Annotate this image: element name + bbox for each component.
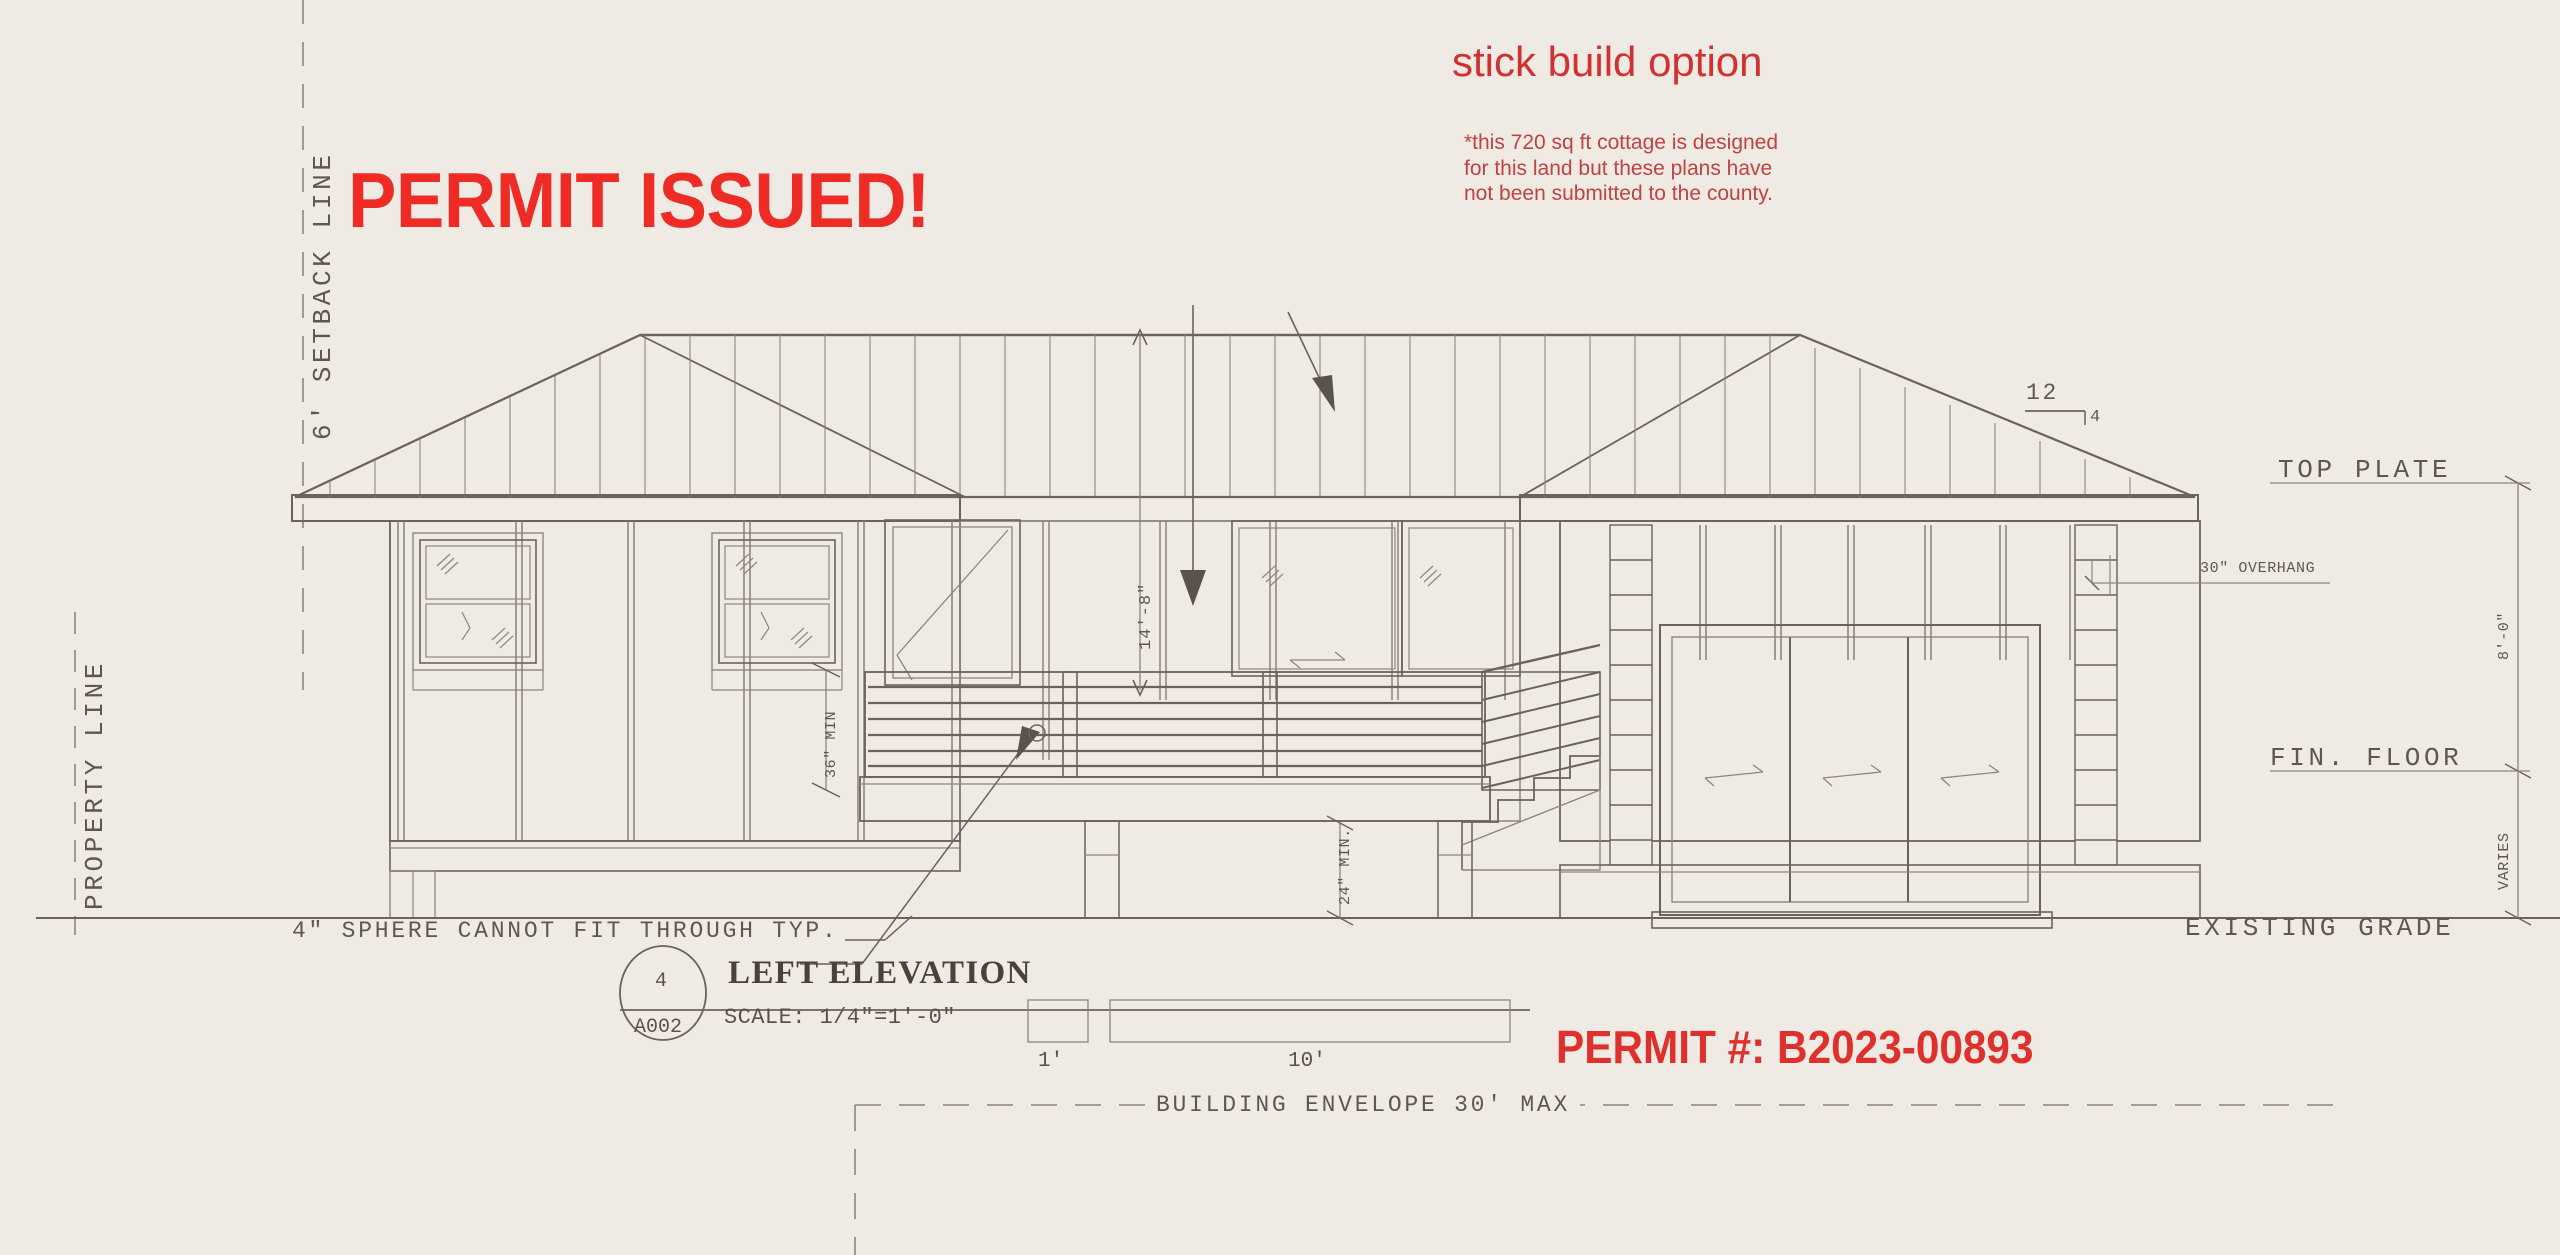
corner-block-right (2075, 525, 2117, 865)
top-plate-label: TOP PLATE (2278, 455, 2451, 485)
detail-bubble-sheet[interactable]: A002 (634, 1016, 682, 1039)
foundation (390, 821, 2200, 918)
wall-body (390, 521, 2200, 865)
corner-block-left (1610, 525, 1652, 865)
guard-sphere-note: 4" SPHERE CANNOT FIT THROUGH TYP. (292, 918, 839, 944)
stick-build-option-note: *this 720 sq ft cottage is designed for … (1464, 130, 1794, 207)
building-envelope-label: BUILDING ENVELOPE 30' MAX (1146, 1092, 1580, 1118)
setback-line-label: 6' SETBACK LINE (308, 151, 338, 440)
window-left-1 (413, 533, 543, 690)
property-line-label: PROPERTY LINE (80, 660, 110, 910)
stick-build-option-title: stick build option (1452, 38, 1763, 86)
center-glazing (1232, 521, 1520, 676)
sliding-glass-door (1652, 625, 2052, 928)
sheet-title: LEFT ELEVATION (728, 955, 1032, 992)
rail-height-dimension: 36" MIN (823, 711, 840, 778)
elevation-sheet: PROPERTY LINE 6' SETBACK LINE PERMIT ISS… (0, 0, 2560, 1255)
building-envelope-graphic (855, 1105, 2340, 1255)
scale-bar-tick-small: 1' (1038, 1050, 1063, 1073)
roof (292, 335, 2198, 521)
finish-floor-label: FIN. FLOOR (2270, 743, 2462, 773)
varies-dimension: VARIES (2496, 832, 2513, 890)
permit-issued-stamp: PERMIT ISSUED! (348, 155, 930, 246)
window-left-2 (712, 533, 842, 690)
wall-height-dimension: 8'-0" (2496, 612, 2513, 660)
detail-bubble-number[interactable]: 4 (655, 970, 667, 993)
roof-pitch-rise-label: 12 (2026, 380, 2059, 406)
permit-number-label: PERMIT #: B2023-00893 (1556, 1020, 2034, 1074)
scale-label: SCALE: 1/4"=1'-0" (724, 1005, 956, 1030)
crawl-clearance-dimension: 24" MIN. (1337, 828, 1354, 905)
roof-pitch-run-label: 4 (2090, 408, 2101, 427)
deck-railing (860, 672, 1490, 821)
existing-grade-label: EXISTING GRADE (2185, 913, 2454, 943)
overhang-label: 30" OVERHANG (2200, 560, 2315, 577)
scale-bar-tick-large: 10' (1288, 1050, 1326, 1073)
stair-and-rail (1462, 645, 1600, 870)
leader-arrows (800, 305, 1335, 964)
ridge-height-dimension: 14'-8" (1137, 583, 1156, 650)
